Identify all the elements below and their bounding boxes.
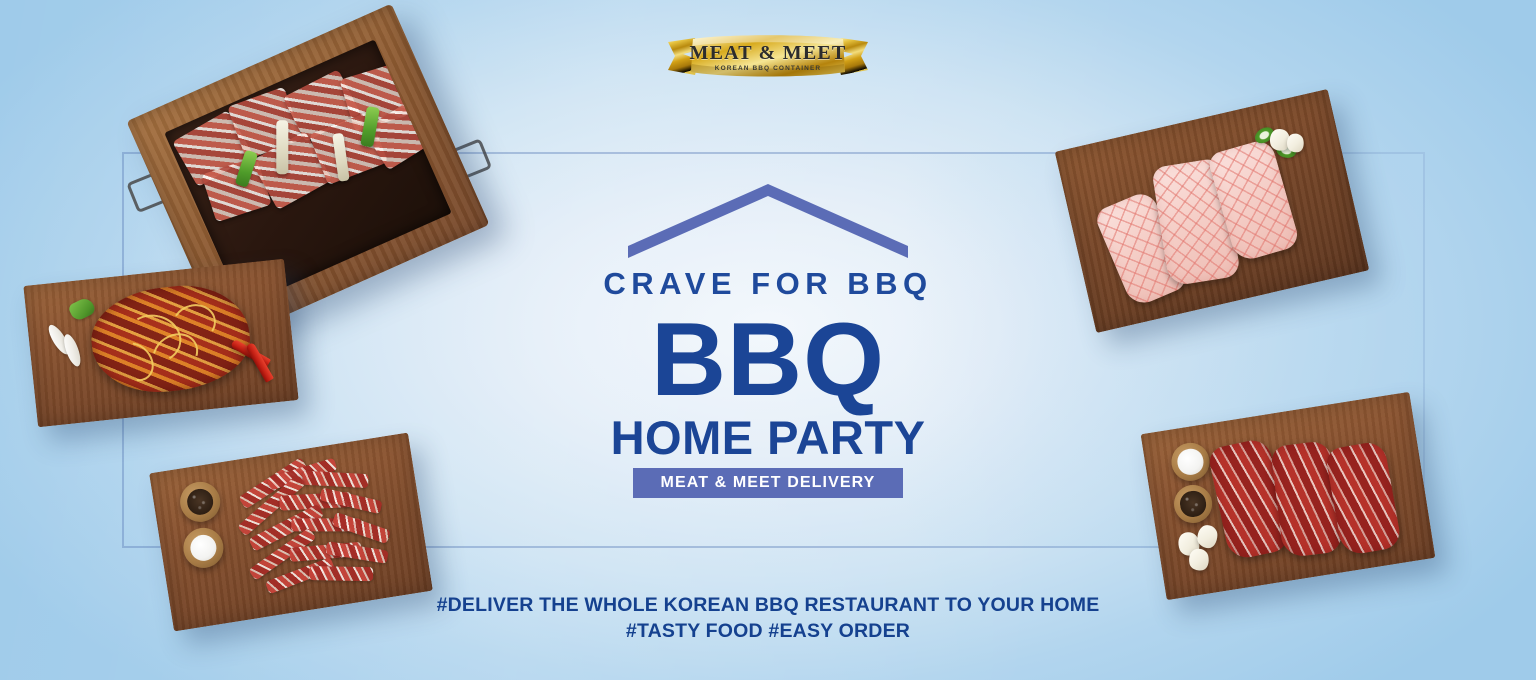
black-pepper [185,487,215,517]
coarse-salt [1176,447,1205,476]
promo-banner: MEAT & MEET KOREAN BBQ CONTAINER [0,0,1536,680]
meat-and-meet-logo[interactable]: MEAT & MEET KOREAN BBQ CONTAINER [665,28,871,84]
black-pepper [1179,490,1208,519]
gold-ribbon-icon [665,28,871,84]
spicy-stir-fried-pork [23,259,298,428]
coarse-salt [188,533,218,563]
